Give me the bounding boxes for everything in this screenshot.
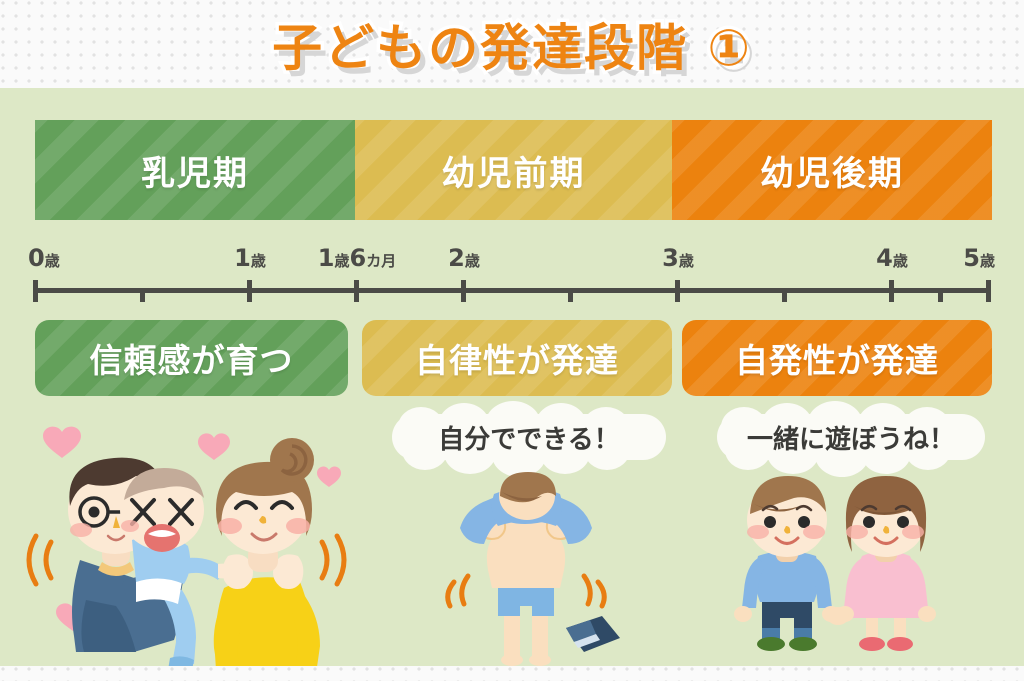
mother-figure bbox=[214, 438, 320, 674]
child-legs bbox=[501, 610, 551, 666]
heart-icon bbox=[43, 427, 81, 458]
motion-lines-icon bbox=[322, 536, 344, 584]
motion-lines-icon bbox=[29, 536, 51, 584]
stage-band-infancy-label: 乳児期 bbox=[141, 146, 249, 195]
axis-tick-0 bbox=[33, 280, 38, 302]
trait-badge-autonomy-label: 自律性が発達 bbox=[415, 334, 619, 382]
illustration-two-children-holding-hands bbox=[718, 470, 968, 670]
girl-figure bbox=[836, 476, 936, 651]
trait-badge-trust-label: 信頼感が育つ bbox=[90, 334, 294, 382]
speech-bubble-self-do: 自分でできる！ bbox=[392, 414, 666, 460]
axis-tick-4 bbox=[889, 280, 894, 302]
axis-tick-1 bbox=[247, 280, 252, 302]
axis-tick-2 bbox=[461, 280, 466, 302]
age-axis: 0歳 1歳 1歳6カ月 2歳 3歳 4歳 5歳 bbox=[0, 232, 1024, 302]
folded-clothes-icon bbox=[566, 616, 620, 652]
axis-label-4: 4歳 bbox=[876, 244, 908, 272]
speech-bubble-self-do-text: 自分でできる！ bbox=[438, 419, 619, 456]
trait-badge-initiative: 自発性が発達 bbox=[682, 320, 992, 396]
axis-tick-3 bbox=[675, 280, 680, 302]
axis-label-2: 2歳 bbox=[448, 244, 480, 272]
illustration-child-dressing-self bbox=[432, 470, 622, 670]
axis-label-1-6m: 1歳6カ月 bbox=[318, 244, 396, 272]
speech-bubble-play-together: 一緒に遊ぼうね！ bbox=[717, 414, 985, 460]
axis-label-1: 1歳 bbox=[234, 244, 266, 272]
page-title: 子どもの発達段階 ① bbox=[0, 0, 1024, 88]
trait-badge-initiative-label: 自発性が発達 bbox=[735, 334, 939, 382]
header-band: 子どもの発達段階 ① bbox=[0, 0, 1024, 88]
stage-band-late-childhood-label: 幼児後期 bbox=[760, 146, 904, 195]
stage-band-early-childhood: 幼児前期 bbox=[355, 120, 672, 220]
trait-badge-autonomy: 自律性が発達 bbox=[362, 320, 672, 396]
stage-band-late-childhood: 幼児後期 bbox=[672, 120, 992, 220]
axis-tick-4-5 bbox=[938, 289, 943, 302]
axis-tick-3-5 bbox=[782, 289, 787, 302]
stage-band-early-childhood-label: 幼児前期 bbox=[442, 146, 586, 195]
axis-tick-2-5 bbox=[568, 289, 573, 302]
heart-icon bbox=[317, 466, 341, 487]
trait-badge-trust: 信頼感が育つ bbox=[35, 320, 348, 396]
axis-label-5: 5歳 bbox=[963, 244, 995, 272]
stage-band-infancy: 乳児期 bbox=[35, 120, 355, 220]
footer-band bbox=[0, 666, 1024, 681]
axis-tick-0-5 bbox=[140, 289, 145, 302]
held-hands bbox=[827, 607, 849, 625]
axis-line bbox=[33, 288, 990, 293]
axis-tick-5 bbox=[986, 280, 991, 302]
axis-label-0: 0歳 bbox=[28, 244, 60, 272]
axis-label-3: 3歳 bbox=[662, 244, 694, 272]
speech-bubble-play-together-text: 一緒に遊ぼうね！ bbox=[747, 419, 955, 456]
illustration-parents-with-crying-baby bbox=[10, 412, 360, 670]
boy-figure bbox=[734, 476, 840, 651]
heart-icon bbox=[198, 433, 230, 460]
infographic-page: 子どもの発達段階 ① 乳児期 幼児前期 幼児後期 0歳 1歳 1歳6 bbox=[0, 0, 1024, 681]
axis-tick-1-6m bbox=[354, 280, 359, 302]
